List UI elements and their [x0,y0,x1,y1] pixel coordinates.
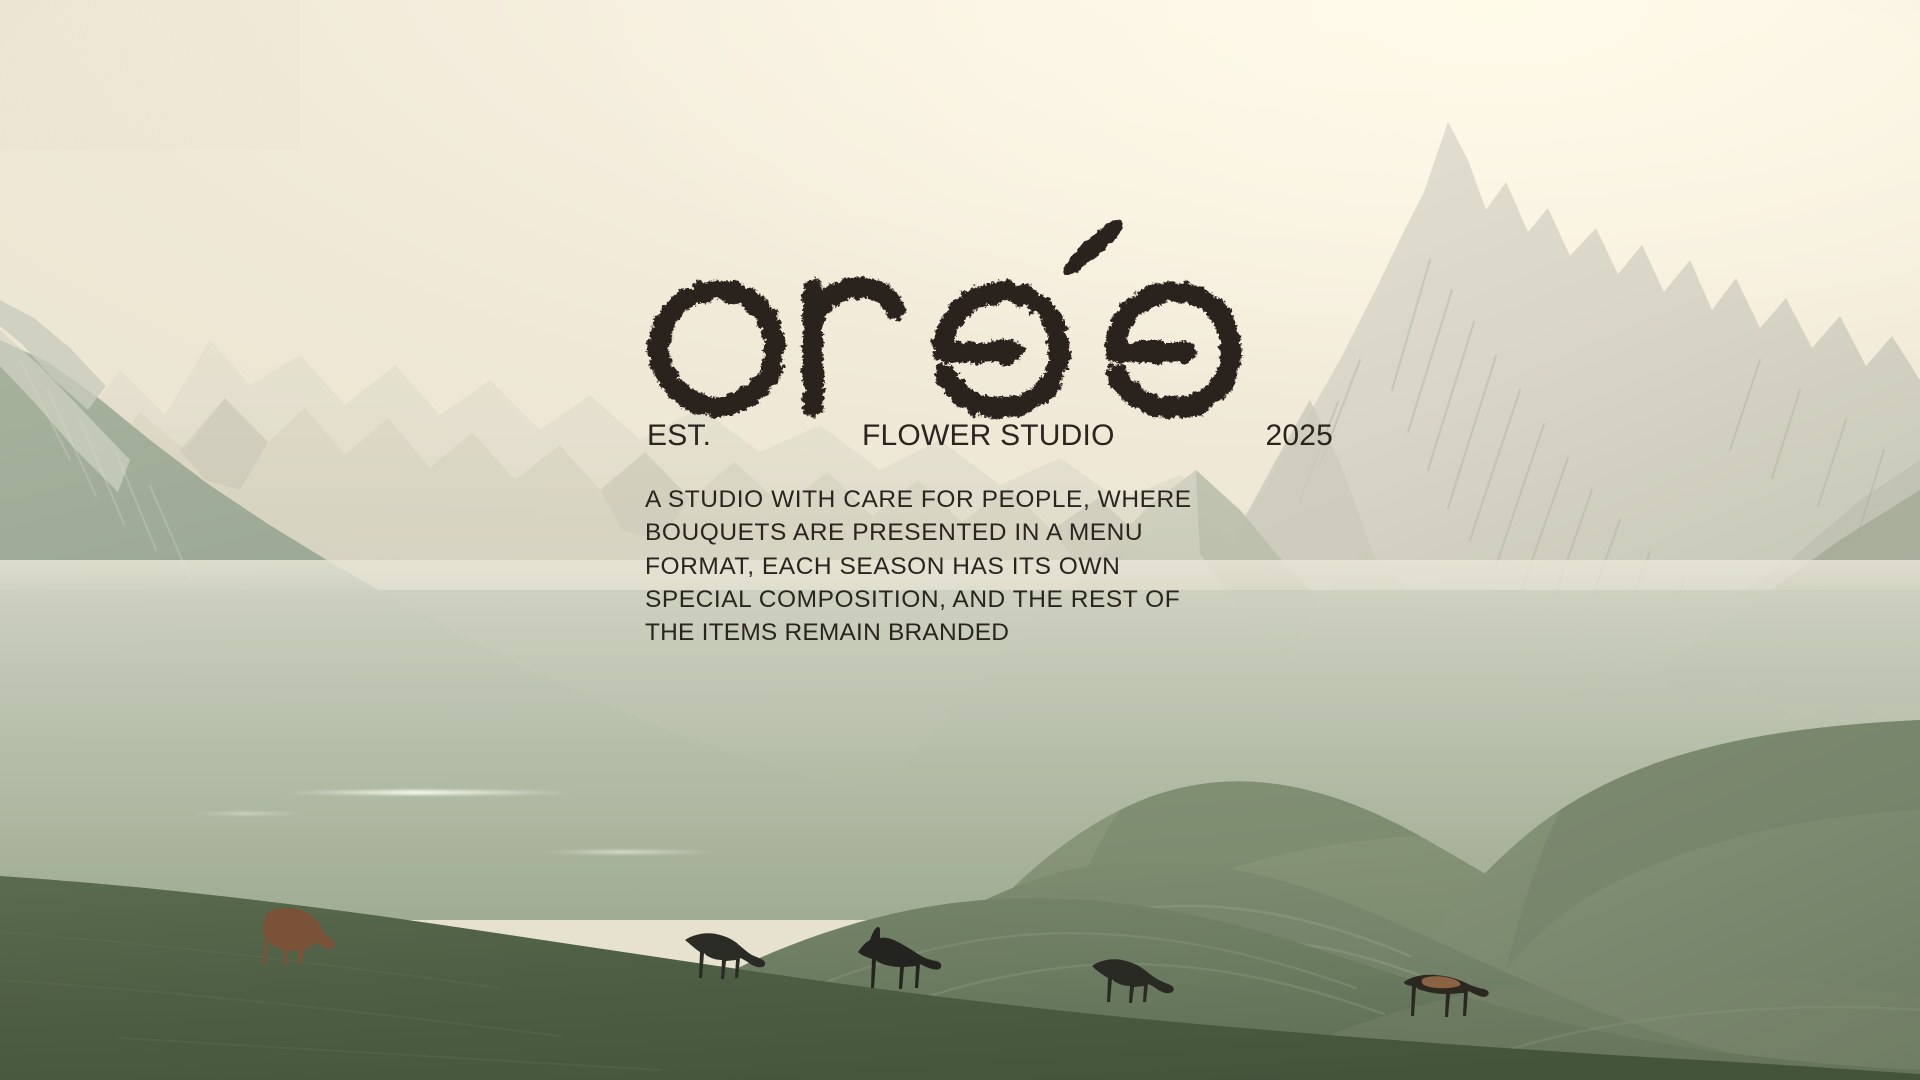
horse-chestnut-standing [1404,975,1489,1017]
brand-description: A STUDIO WITH CARE FOR PEOPLE, WHERE BOU… [645,483,1335,650]
horse-chestnut-grazing [263,908,335,965]
description-line-5: THE ITEMS REMAIN BRANDED [645,616,1335,649]
studio-label: FLOWER STUDIO [862,419,1115,453]
horse-dark-grazing [685,933,765,979]
description-line-4: SPECIAL COMPOSITION, AND THE REST OF [645,583,1335,616]
brand-meta-row: EST. FLOWER STUDIO 2025 [645,419,1335,453]
hero-content: EST. FLOWER STUDIO 2025 A STUDIO WITH CA… [645,200,1335,650]
year-label: 2025 [1265,419,1333,453]
brand-wordmark [645,200,1335,415]
description-line-1: A STUDIO WITH CARE FOR PEOPLE, WHERE [645,483,1335,516]
acute-accent-stroke [1062,220,1123,276]
description-line-3: FORMAT, EACH SEASON HAS ITS OWN [645,550,1335,583]
horse-dark-grazing-right [1092,959,1174,1003]
hero-canvas: EST. FLOWER STUDIO 2025 A STUDIO WITH CA… [0,0,1920,1080]
horse-dark-standing [858,927,941,989]
established-label: EST. [647,419,711,453]
description-line-2: BOUQUETS ARE PRESENTED IN A MENU [645,516,1335,549]
horse-herd [0,890,1920,1040]
